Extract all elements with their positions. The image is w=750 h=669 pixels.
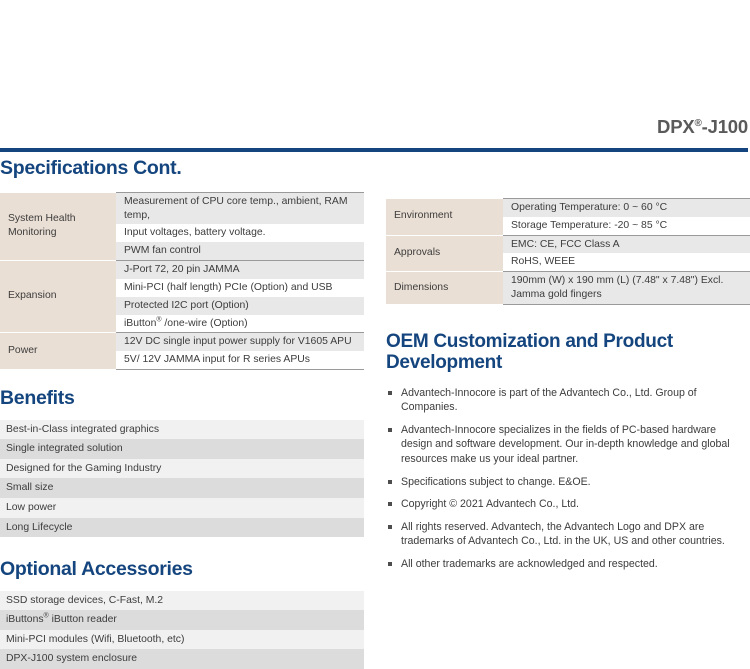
list-item: Single integrated solution: [0, 439, 364, 459]
spec-value-line: Protected I2C port (Option): [116, 297, 364, 315]
oem-bullet-text: Advantech-Innocore specializes in the fi…: [401, 424, 730, 465]
list-item: Small size: [0, 478, 364, 498]
spec-row-values: 12V DC single input power supply for V16…: [116, 333, 364, 370]
spec-row-values: Operating Temperature: 0 ~ 60 °CStorage …: [503, 199, 750, 236]
spec-row-label: Environment: [386, 199, 503, 236]
oem-bullet-list: Advantech-Innocore is part of the Advant…: [386, 386, 750, 580]
page-title: DPX®-J100: [657, 118, 748, 137]
benefits-heading: Benefits: [0, 388, 364, 410]
square-bullet-icon: [388, 502, 392, 506]
benefits-list: Best-in-Class integrated graphicsSingle …: [0, 420, 364, 537]
list-item: Best-in-Class integrated graphics: [0, 420, 364, 440]
optional-accessories-list: SSD storage devices, C-Fast, M.2iButtons…: [0, 591, 364, 669]
oem-heading: OEM Customization and Product Developmen…: [386, 331, 750, 374]
spec-value-line: Input voltages, battery voltage.: [116, 224, 364, 242]
oem-bullet-item: All other trademarks are acknowledged an…: [386, 557, 750, 580]
square-bullet-icon: [388, 391, 392, 395]
list-item: Designed for the Gaming Industry: [0, 459, 364, 479]
spec-value-line: Storage Temperature: -20 ~ 85 °C: [503, 217, 750, 235]
spec-row-values: EMC: CE, FCC Class ARoHS, WEEE: [503, 235, 750, 272]
spec-value-line: 190mm (W) x 190 mm (L) (7.48" x 7.48") E…: [503, 272, 750, 304]
spec-value-line: PWM fan control: [116, 242, 364, 260]
square-bullet-icon: [388, 525, 392, 529]
specifications-table-right: EnvironmentOperating Temperature: 0 ~ 60…: [386, 198, 750, 305]
oem-bullet-text: Specifications subject to change. E&OE.: [401, 476, 591, 488]
spec-value-line: EMC: CE, FCC Class A: [503, 236, 750, 254]
spec-value-line: 12V DC single input power supply for V16…: [116, 333, 364, 351]
specifications-table-left: System Health MonitoringMeasurement of C…: [0, 192, 364, 370]
right-column: EnvironmentOperating Temperature: 0 ~ 60…: [386, 158, 750, 580]
oem-bullet-item: Copyright © 2021 Advantech Co., Ltd.: [386, 497, 750, 520]
spec-row-values: 190mm (W) x 190 mm (L) (7.48" x 7.48") E…: [503, 272, 750, 305]
spec-row-values: J-Port 72, 20 pin JAMMAMini-PCI (half le…: [116, 261, 364, 333]
list-item: Low power: [0, 498, 364, 518]
square-bullet-icon: [388, 480, 392, 484]
square-bullet-icon: [388, 428, 392, 432]
oem-bullet-item: Advantech-Innocore specializes in the fi…: [386, 423, 750, 475]
product-name: DPX: [657, 116, 694, 137]
spec-row: System Health MonitoringMeasurement of C…: [0, 192, 364, 260]
product-model: -J100: [702, 116, 748, 137]
spec-row-values: Measurement of CPU core temp., ambient, …: [116, 192, 364, 260]
page-header: DPX®-J100: [0, 0, 750, 150]
spec-value-line: J-Port 72, 20 pin JAMMA: [116, 261, 364, 279]
square-bullet-icon: [388, 562, 392, 566]
spec-value-line: Operating Temperature: 0 ~ 60 °C: [503, 199, 750, 217]
oem-bullet-item: All rights reserved. Advantech, the Adva…: [386, 520, 750, 557]
spec-row: Power12V DC single input power supply fo…: [0, 333, 364, 370]
spec-row: Dimensions190mm (W) x 190 mm (L) (7.48" …: [386, 272, 750, 305]
spec-value-line: Measurement of CPU core temp., ambient, …: [116, 193, 364, 225]
list-item: Mini-PCI modules (Wifi, Bluetooth, etc): [0, 630, 364, 650]
spec-value-line: iButton® /one-wire (Option): [116, 315, 364, 333]
spec-value-line: Mini-PCI (half length) PCIe (Option) and…: [116, 279, 364, 297]
oem-bullet-item: Specifications subject to change. E&OE.: [386, 475, 750, 498]
list-item: iButtons® iButton reader: [0, 610, 364, 630]
left-column: Specifications Cont. System Health Monit…: [0, 158, 364, 669]
oem-bullet-text: All rights reserved. Advantech, the Adva…: [401, 521, 725, 548]
spec-row-label: Approvals: [386, 235, 503, 272]
spec-row: ExpansionJ-Port 72, 20 pin JAMMAMini-PCI…: [0, 261, 364, 333]
spec-row: EnvironmentOperating Temperature: 0 ~ 60…: [386, 199, 750, 236]
spec-row-label: System Health Monitoring: [0, 192, 116, 260]
specifications-heading: Specifications Cont.: [0, 158, 364, 180]
spec-value-line: 5V/ 12V JAMMA input for R series APUs: [116, 351, 364, 369]
spec-value-line: RoHS, WEEE: [503, 253, 750, 271]
specifications-table-left-body: System Health MonitoringMeasurement of C…: [0, 192, 364, 369]
optional-accessories-heading: Optional Accessories: [0, 559, 364, 581]
oem-bullet-text: Advantech-Innocore is part of the Advant…: [401, 387, 697, 414]
spec-row-label: Dimensions: [386, 272, 503, 305]
list-item: SSD storage devices, C-Fast, M.2: [0, 591, 364, 611]
spec-row-label: Power: [0, 333, 116, 370]
spec-row-label: Expansion: [0, 261, 116, 333]
oem-bullet-item: Advantech-Innocore is part of the Advant…: [386, 386, 750, 423]
header-divider: [0, 148, 748, 152]
oem-bullet-text: All other trademarks are acknowledged an…: [401, 558, 658, 570]
list-item: DPX-J100 system enclosure: [0, 649, 364, 669]
specifications-table-right-body: EnvironmentOperating Temperature: 0 ~ 60…: [386, 199, 750, 305]
spec-row: ApprovalsEMC: CE, FCC Class ARoHS, WEEE: [386, 235, 750, 272]
list-item: Long Lifecycle: [0, 518, 364, 538]
oem-bullet-text: Copyright © 2021 Advantech Co., Ltd.: [401, 498, 579, 510]
registered-mark-icon: ®: [695, 118, 702, 129]
